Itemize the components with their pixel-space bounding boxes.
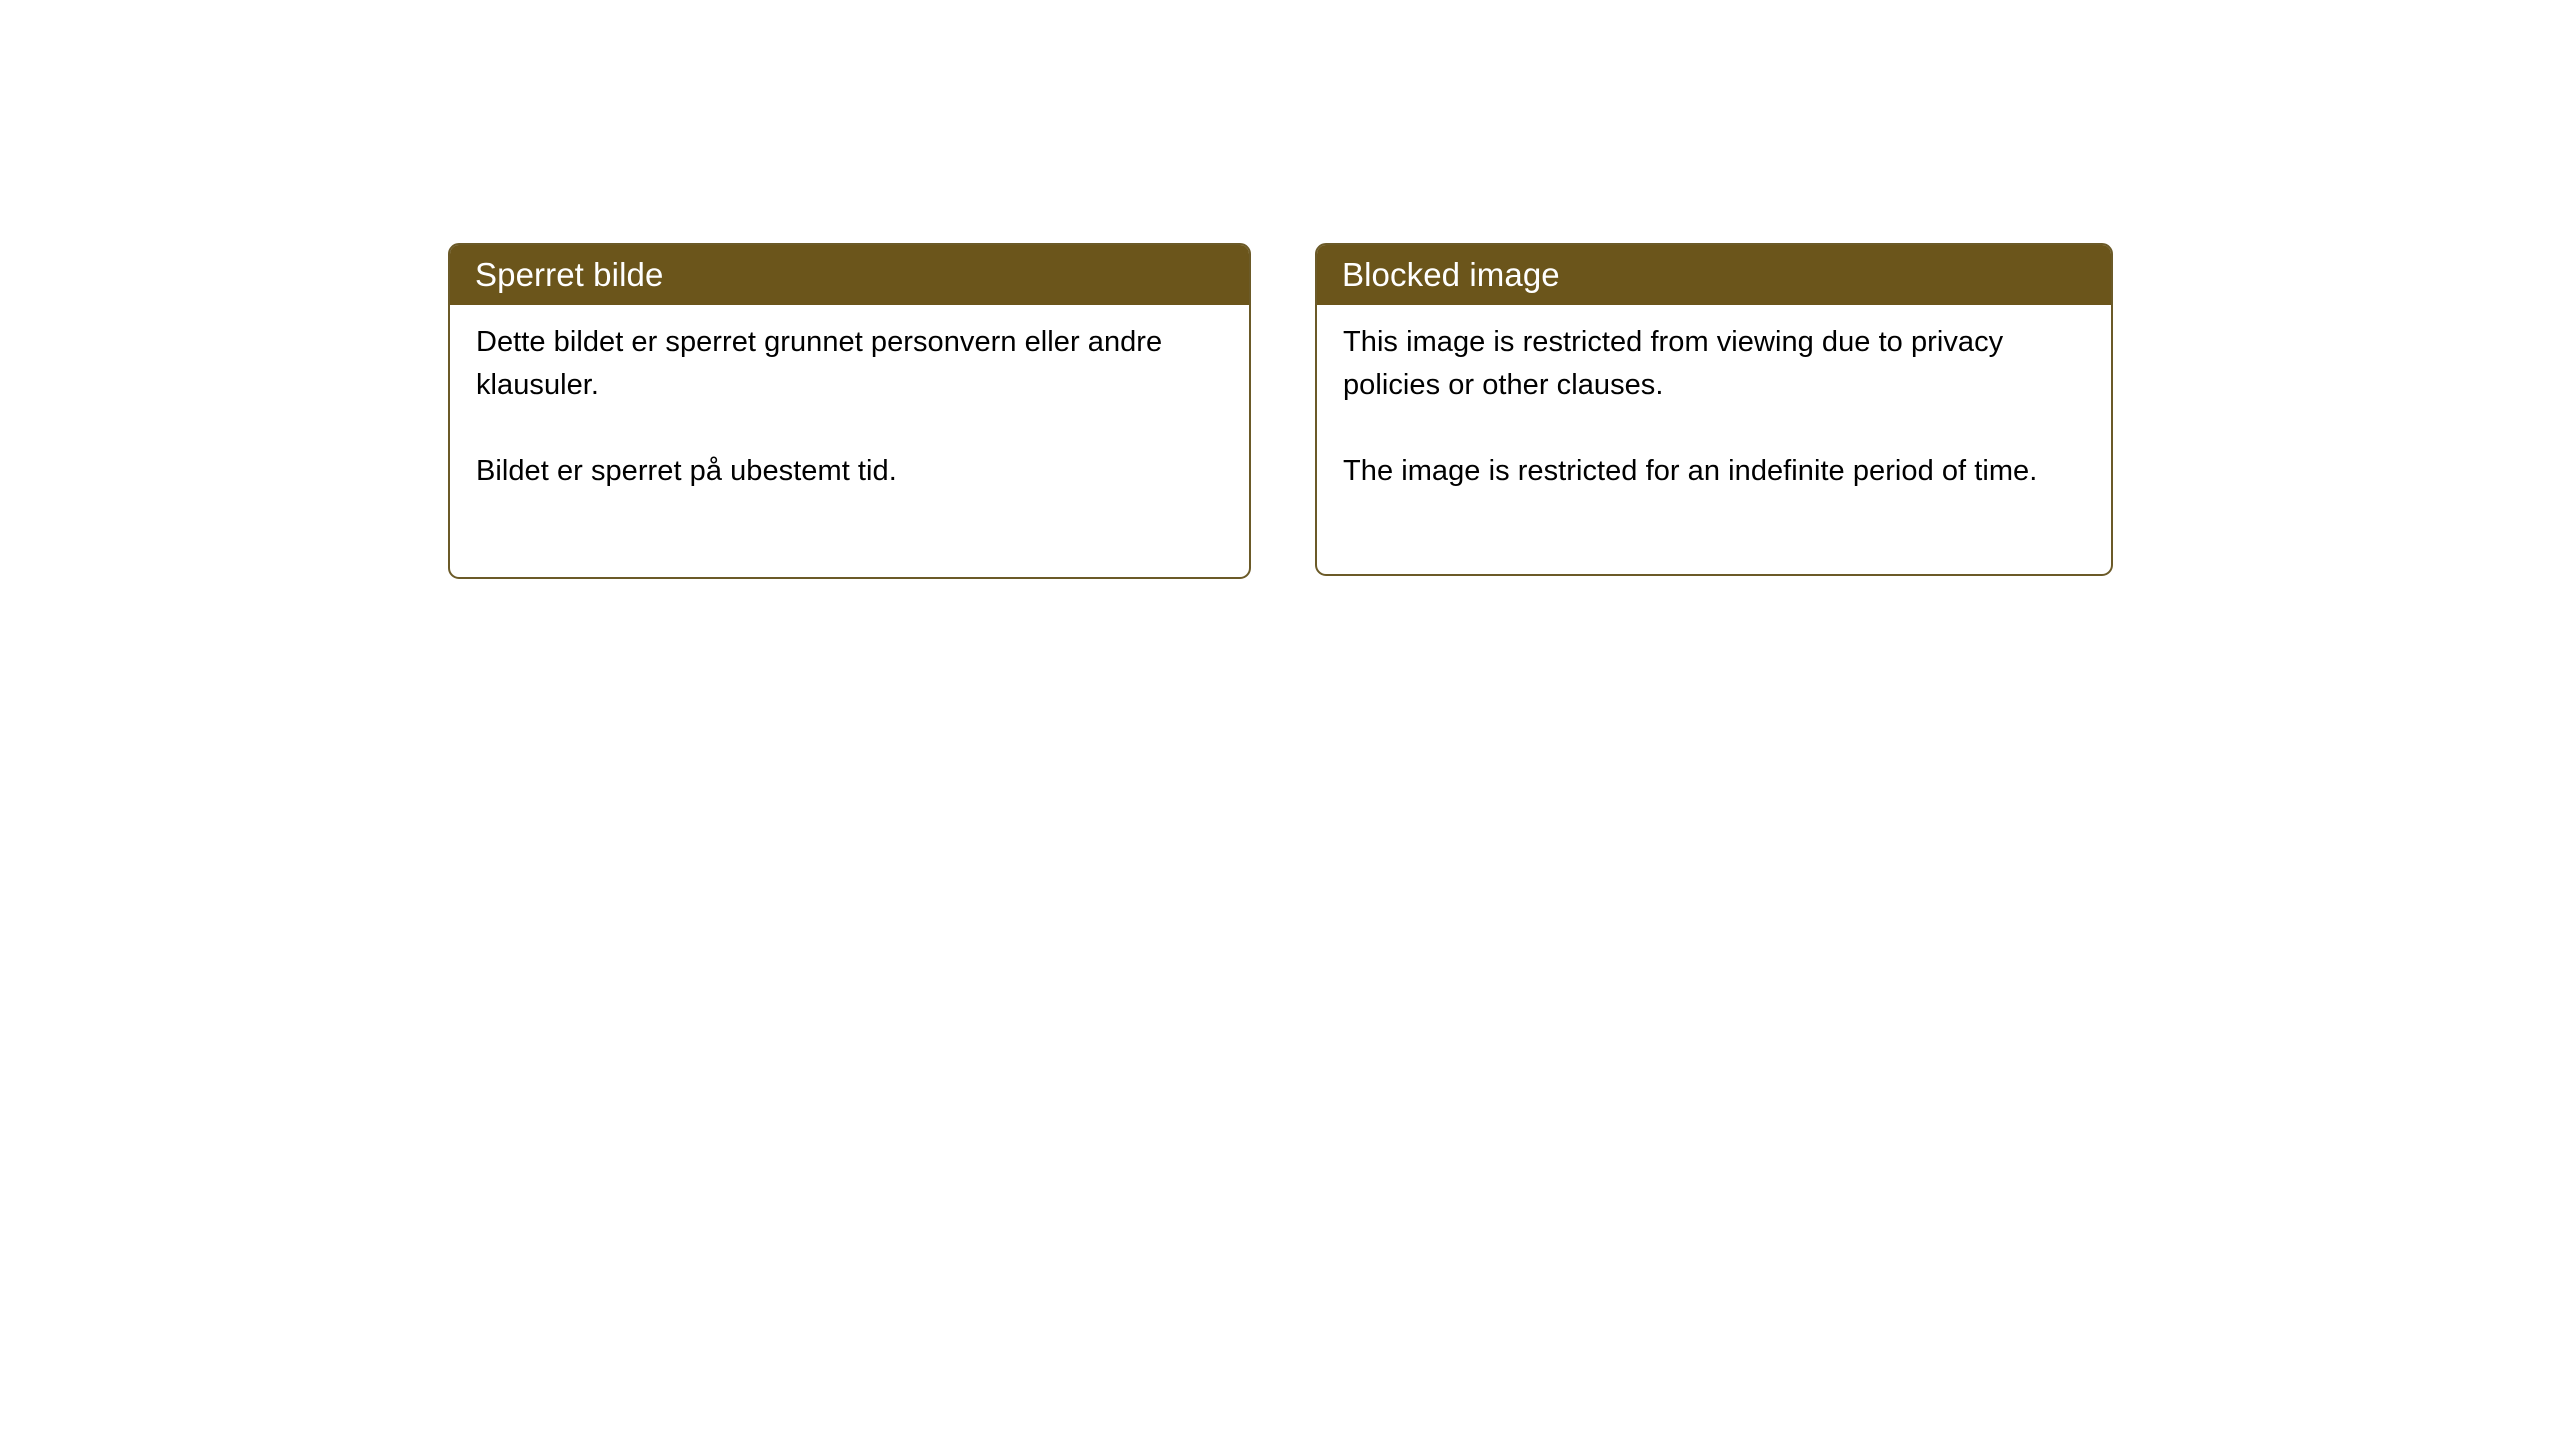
notice-title-no: Sperret bilde (475, 256, 663, 294)
notice-paragraph-secondary-en: The image is restricted for an indefinit… (1343, 450, 2087, 493)
blocked-image-notice-en: Blocked image This image is restricted f… (1315, 243, 2113, 576)
notice-header-no: Sperret bilde (450, 245, 1249, 305)
page-canvas: Sperret bilde Dette bildet er sperret gr… (0, 0, 2560, 1440)
notice-title-en: Blocked image (1342, 256, 1560, 294)
notice-paragraph-primary-en: This image is restricted from viewing du… (1343, 321, 2087, 407)
notice-paragraph-primary-no: Dette bildet er sperret grunnet personve… (476, 321, 1225, 407)
notice-paragraph-secondary-no: Bildet er sperret på ubestemt tid. (476, 450, 1225, 493)
notice-body-en: This image is restricted from viewing du… (1317, 305, 2111, 493)
blocked-image-notice-no: Sperret bilde Dette bildet er sperret gr… (448, 243, 1251, 579)
notice-body-no: Dette bildet er sperret grunnet personve… (450, 305, 1249, 493)
notice-header-en: Blocked image (1317, 245, 2111, 305)
